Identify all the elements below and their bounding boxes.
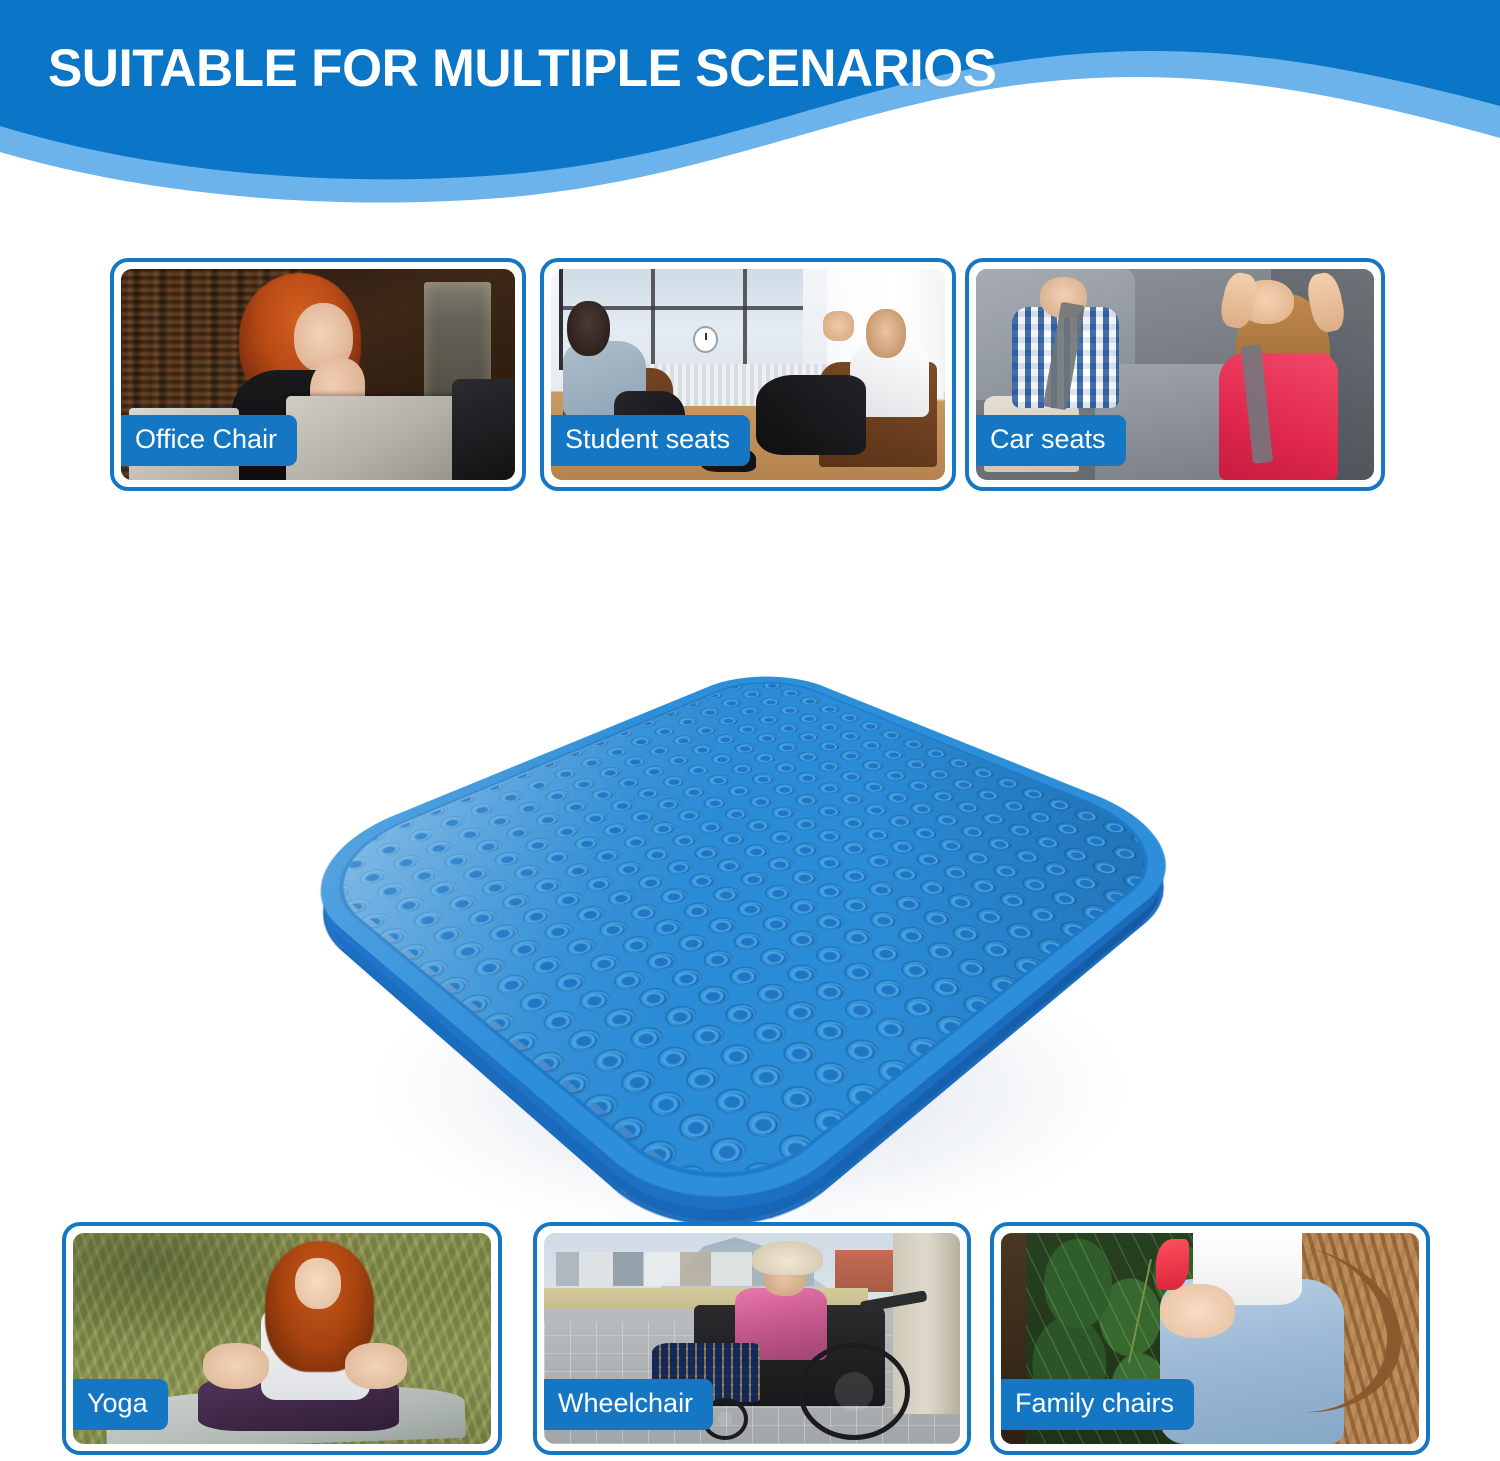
scenario-card-student-seats[interactable]: Student seats	[540, 258, 956, 491]
red-flower	[1156, 1239, 1189, 1290]
scenario-card-family-chairs[interactable]: Family chairs	[990, 1222, 1430, 1455]
bag-decor	[452, 379, 515, 480]
yoga-arm-right	[345, 1343, 408, 1389]
wheelchair-rear-wheel	[798, 1343, 910, 1440]
yoga-arm-left	[203, 1343, 270, 1389]
scenario-label-student-seats: Student seats	[551, 415, 750, 466]
scenario-photo-wheelchair: Wheelchair	[544, 1233, 960, 1444]
red-building	[835, 1250, 902, 1292]
scenario-label-family-chairs: Family chairs	[1001, 1379, 1194, 1430]
header-banner: SUITABLE FOR MULTIPLE SCENARIOS	[0, 0, 1500, 232]
right-person-hand	[823, 311, 855, 341]
scenario-label-wheelchair: Wheelchair	[544, 1379, 713, 1430]
scenario-card-office-chair[interactable]: Office Chair	[110, 258, 526, 491]
scenario-photo-yoga: Yoga	[73, 1233, 491, 1444]
scenario-photo-student-seats: Student seats	[551, 269, 945, 480]
right-person-head	[866, 309, 905, 358]
scenario-photo-car-seats: Car seats	[976, 269, 1374, 480]
product-image-area	[268, 505, 1232, 1205]
girl-shirt	[1219, 353, 1338, 480]
header-wave-graphic	[0, 0, 1500, 232]
page-title: SUITABLE FOR MULTIPLE SCENARIOS	[48, 38, 996, 99]
right-person-legs	[756, 375, 866, 455]
left-person-head	[567, 301, 610, 356]
scenario-photo-office-chair: Office Chair	[121, 269, 515, 480]
scenario-label-yoga: Yoga	[73, 1379, 168, 1430]
scenario-card-yoga[interactable]: Yoga	[62, 1222, 502, 1455]
scenario-card-car-seats[interactable]: Car seats	[965, 258, 1385, 491]
knit-hat	[752, 1241, 823, 1275]
scenario-photo-family-chairs: Family chairs	[1001, 1233, 1419, 1444]
scenario-label-office-chair: Office Chair	[121, 415, 297, 466]
laptop	[286, 396, 459, 480]
yoga-person-face	[295, 1258, 341, 1309]
scenario-card-wheelchair[interactable]: Wheelchair	[533, 1222, 971, 1455]
scenario-label-car-seats: Car seats	[976, 415, 1126, 466]
